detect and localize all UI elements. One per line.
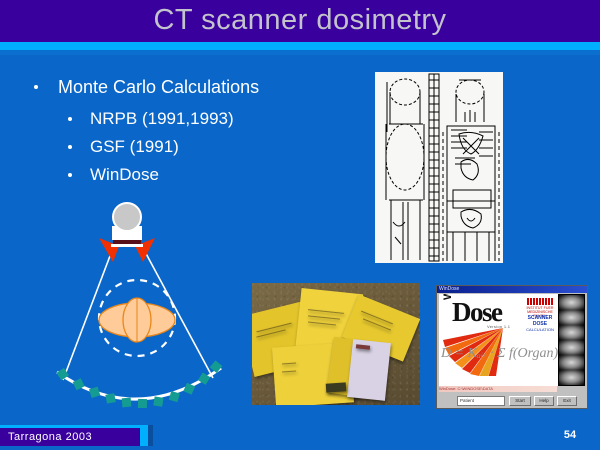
institute-logo-icon — [527, 298, 553, 305]
bullet-dot-icon — [68, 173, 72, 177]
bullet-dot-icon — [68, 117, 72, 121]
detector-array — [56, 360, 222, 408]
slide-canvas: CT scanner dosimetry Monte Carlo Calcula… — [0, 0, 600, 450]
ct-thumbnail — [559, 295, 584, 310]
footer-accent-tab-dark — [148, 425, 153, 446]
footer-accent-tab — [140, 425, 148, 446]
ct-thumbnail — [559, 325, 584, 340]
institute-line-blue-2: CALCULATION — [521, 327, 559, 332]
bullet-level2-nrpb: NRPB (1991,1993) — [28, 106, 358, 131]
status-bar-label: WinDose: C:\WINDOSE\DATA — [439, 386, 557, 392]
ct-scanner-diagram — [55, 200, 245, 415]
ct-thumbnail — [559, 340, 584, 355]
page-title: CT scanner dosimetry — [0, 4, 600, 37]
bullet-dot-icon — [34, 85, 38, 89]
accent-stripe-cyan — [0, 42, 600, 50]
patient-input[interactable]: Patient — [457, 396, 505, 406]
ct-thumbnail — [559, 355, 584, 370]
window-title-label: WinDose — [439, 286, 509, 293]
footer-label: Tarragona 2003 — [8, 428, 92, 446]
phantom-drawing-svg — [375, 72, 503, 263]
slide-number: 54 — [560, 429, 580, 441]
bullet-level2-label: GSF (1991) — [90, 137, 179, 156]
ct-thumbnail — [559, 310, 584, 325]
bullet-level1: Monte Carlo Calculations — [28, 74, 358, 100]
accent-stripe-blue — [0, 50, 600, 55]
ct-thumbnail-strip[interactable] — [558, 294, 585, 386]
bullet-level2-label: WinDose — [90, 165, 159, 184]
windose-button-row: Patient Start Help Exit — [437, 393, 585, 407]
dose-equation: D = Kₐᵢᵣ · Σ f(Organ) — [441, 346, 559, 362]
help-button[interactable]: Help — [534, 396, 554, 406]
start-button[interactable]: Start — [509, 396, 531, 406]
x-ray-tube — [111, 203, 143, 247]
bullet-level2-windose: WinDose — [28, 162, 358, 187]
windose-splash: WIN Dose Version 1.1 INSTITUT FUER MEDIZ… — [439, 294, 585, 386]
bullet-level1-label: Monte Carlo Calculations — [58, 77, 259, 97]
institute-line-blue-1: SCANNER DOSE — [521, 315, 559, 327]
bullet-dot-icon — [68, 145, 72, 149]
ct-thumbnail — [559, 370, 584, 385]
phantom-drawing-figure — [375, 72, 503, 263]
ct-scanner-svg — [55, 200, 245, 415]
envelopes-photo — [252, 283, 420, 405]
bullet-level2-label: NRPB (1991,1993) — [90, 109, 234, 128]
exit-button[interactable]: Exit — [557, 396, 577, 406]
windose-window[interactable]: WinDose WIN Dose Version 1.1 INSTI — [436, 285, 588, 409]
patient-cross-section — [99, 298, 175, 342]
bullet-level2-gsf: GSF (1991) — [28, 134, 358, 159]
bullet-list: Monte Carlo Calculations NRPB (1991,1993… — [28, 74, 358, 190]
